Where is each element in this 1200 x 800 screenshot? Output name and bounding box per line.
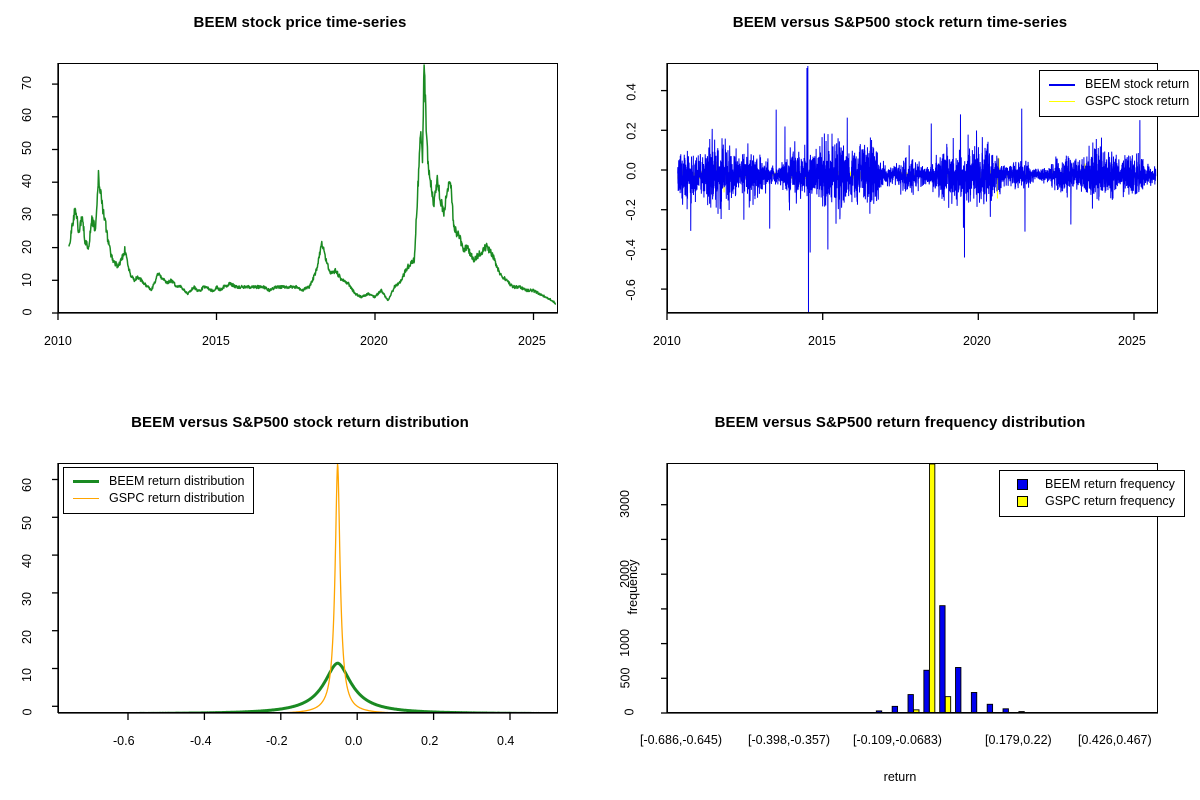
density-xtick: 0.0 bbox=[345, 734, 362, 748]
returns-xtick: 2010 bbox=[653, 334, 681, 348]
legend-item: BEEM return frequency bbox=[1008, 476, 1175, 493]
blue-box-swatch-icon bbox=[1008, 478, 1036, 492]
histogram-xtick: [0.426,0.467) bbox=[1078, 733, 1152, 747]
density-ytick: 10 bbox=[20, 668, 34, 682]
returns-ytick: 0.4 bbox=[625, 83, 639, 100]
panel-returns-title: BEEM versus S&P500 stock return time-ser… bbox=[600, 14, 1200, 31]
histogram-xlabel: return bbox=[600, 770, 1200, 784]
panel-returns: BEEM versus S&P500 stock return time-ser… bbox=[600, 0, 1200, 400]
histogram-ytick: 2000 bbox=[618, 560, 632, 588]
panel-density-title: BEEM versus S&P500 stock return distribu… bbox=[0, 414, 600, 431]
histogram-ytick: 1000 bbox=[618, 629, 632, 657]
legend-item: GSPC stock return bbox=[1048, 93, 1189, 110]
legend-item: GSPC return distribution bbox=[72, 490, 244, 507]
price-ytick: 0 bbox=[20, 309, 34, 316]
density-ytick: 0 bbox=[20, 709, 34, 716]
yellow-box-swatch-icon bbox=[1008, 495, 1036, 509]
returns-xtick: 2020 bbox=[963, 334, 991, 348]
price-ytick: 70 bbox=[20, 76, 34, 90]
returns-ytick: -0.2 bbox=[624, 199, 638, 221]
price-ytick: 40 bbox=[20, 174, 34, 188]
price-xtick: 2025 bbox=[518, 334, 546, 348]
returns-xtick: 2025 bbox=[1118, 334, 1146, 348]
histogram-xtick: [-0.398,-0.357) bbox=[748, 733, 830, 747]
histogram-xtick: [-0.109,-0.0683) bbox=[853, 733, 942, 747]
returns-ytick: -0.4 bbox=[624, 239, 638, 261]
orange-line-swatch-icon bbox=[72, 492, 100, 506]
figure-canvas: BEEM stock price time-series 0 10 20 30 … bbox=[0, 0, 1200, 800]
price-xtick: 2015 bbox=[202, 334, 230, 348]
legend-label: GSPC return distribution bbox=[109, 490, 244, 507]
legend-item: GSPC return frequency bbox=[1008, 493, 1175, 510]
legend-item: BEEM stock return bbox=[1048, 76, 1189, 93]
legend-label: BEEM stock return bbox=[1085, 76, 1189, 93]
legend-label: BEEM return distribution bbox=[109, 473, 244, 490]
price-xtick: 2010 bbox=[44, 334, 72, 348]
histogram-ylabel: frequency bbox=[626, 542, 640, 632]
price-ytick: 60 bbox=[20, 108, 34, 122]
legend-label: BEEM return frequency bbox=[1045, 476, 1175, 493]
histogram-ytick: 0 bbox=[622, 709, 636, 716]
density-xtick: -0.2 bbox=[266, 734, 288, 748]
legend-label: GSPC return frequency bbox=[1045, 493, 1175, 510]
price-plot-area bbox=[58, 63, 558, 313]
panel-price-title: BEEM stock price time-series bbox=[0, 14, 600, 31]
price-xtick: 2020 bbox=[360, 334, 388, 348]
density-xtick: 0.4 bbox=[497, 734, 514, 748]
price-line-chart bbox=[59, 64, 558, 313]
price-ytick: 20 bbox=[20, 240, 34, 254]
histogram-ytick: 3000 bbox=[618, 490, 632, 518]
price-ytick: 10 bbox=[20, 273, 34, 287]
histogram-legend: BEEM return frequency GSPC return freque… bbox=[999, 470, 1185, 517]
panel-density: BEEM versus S&P500 stock return distribu… bbox=[0, 400, 600, 800]
returns-ytick: 0.2 bbox=[625, 122, 639, 139]
density-xtick: -0.6 bbox=[113, 734, 135, 748]
density-ytick: 40 bbox=[20, 554, 34, 568]
legend-item: BEEM return distribution bbox=[72, 473, 244, 490]
density-ytick: 20 bbox=[20, 630, 34, 644]
price-ytick: 30 bbox=[20, 207, 34, 221]
density-legend: BEEM return distribution GSPC return dis… bbox=[63, 467, 254, 514]
density-ytick: 30 bbox=[20, 592, 34, 606]
green-line-swatch-icon bbox=[72, 475, 100, 489]
density-ytick: 60 bbox=[20, 478, 34, 492]
histogram-xtick: [-0.686,-0.645) bbox=[640, 733, 722, 747]
returns-ytick: 0.0 bbox=[625, 162, 639, 179]
blue-line-swatch-icon bbox=[1048, 78, 1076, 92]
panel-histogram: BEEM versus S&P500 return frequency dist… bbox=[600, 400, 1200, 800]
yellow-line-swatch-icon bbox=[1048, 95, 1076, 109]
price-ytick: 50 bbox=[20, 141, 34, 155]
panel-price: BEEM stock price time-series 0 10 20 30 … bbox=[0, 0, 600, 400]
returns-xtick: 2015 bbox=[808, 334, 836, 348]
density-xtick: -0.4 bbox=[190, 734, 212, 748]
density-xtick: 0.2 bbox=[421, 734, 438, 748]
density-ytick: 50 bbox=[20, 516, 34, 530]
panel-histogram-title: BEEM versus S&P500 return frequency dist… bbox=[600, 414, 1200, 431]
legend-label: GSPC stock return bbox=[1085, 93, 1189, 110]
returns-ytick: -0.6 bbox=[624, 279, 638, 301]
returns-legend: BEEM stock return GSPC stock return bbox=[1039, 70, 1199, 117]
histogram-xtick: [0.179,0.22) bbox=[985, 733, 1052, 747]
histogram-ytick: 500 bbox=[618, 668, 632, 689]
